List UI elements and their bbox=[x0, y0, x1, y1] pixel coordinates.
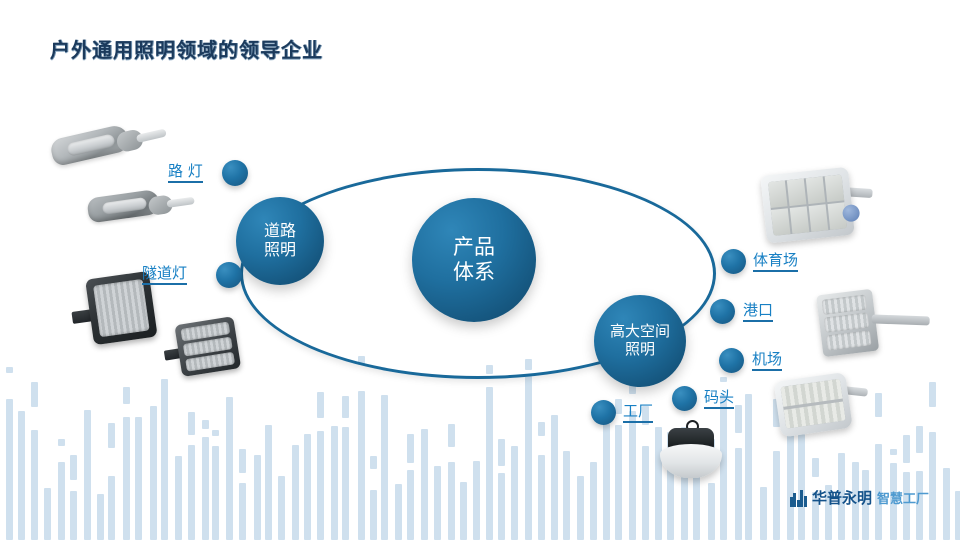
decorative-bar-segment bbox=[448, 424, 455, 447]
decorative-bar-segment bbox=[239, 449, 246, 473]
decorative-bar bbox=[460, 482, 467, 540]
decorative-bar bbox=[304, 434, 311, 540]
hub-road-lighting[interactable]: 道路 照明 bbox=[236, 197, 324, 285]
decorative-bar bbox=[943, 468, 950, 540]
decorative-bar bbox=[407, 470, 414, 540]
decorative-bar bbox=[265, 425, 272, 540]
decorative-bar-segment bbox=[58, 439, 65, 446]
decorative-bar-segment bbox=[890, 449, 897, 455]
decorative-bar bbox=[642, 446, 649, 540]
node-dot-wharf[interactable] bbox=[672, 386, 697, 411]
decorative-bar bbox=[525, 376, 532, 540]
decorative-bar bbox=[434, 466, 441, 540]
decorative-bar bbox=[18, 411, 25, 540]
highbay-ufo-lamp-image bbox=[660, 420, 722, 482]
decorative-bar bbox=[563, 451, 570, 540]
page-title: 户外通用照明领域的领导企业 bbox=[50, 34, 323, 63]
decorative-bar-segment bbox=[903, 435, 910, 463]
node-dot-stadium[interactable] bbox=[721, 249, 746, 274]
grey-floodlight-image bbox=[816, 281, 944, 367]
decorative-bar-segment bbox=[6, 367, 13, 373]
decorative-bar bbox=[590, 462, 597, 540]
decorative-bar bbox=[84, 410, 91, 540]
decorative-bar-segment bbox=[735, 405, 742, 433]
decorative-bar bbox=[448, 462, 455, 540]
decorative-bar bbox=[226, 397, 233, 540]
hub-center-line1: 产品 bbox=[453, 235, 495, 260]
decorative-bar bbox=[212, 446, 219, 540]
decorative-bar bbox=[358, 391, 365, 540]
slide-canvas: 产品 体系 道路 照明 高大空间 照明 路 灯 隧道灯 体育场 港口 机场 码头… bbox=[0, 0, 960, 540]
decorative-bar bbox=[6, 399, 13, 540]
node-label-stadium[interactable]: 体育场 bbox=[753, 252, 798, 272]
logo-suffix-text: 智慧工厂 bbox=[877, 488, 929, 507]
node-dot-factory[interactable] bbox=[591, 400, 616, 425]
hub-high-space-lighting[interactable]: 高大空间 照明 bbox=[594, 295, 686, 387]
node-label-street-light[interactable]: 路 灯 bbox=[168, 163, 203, 183]
node-dot-port[interactable] bbox=[710, 299, 735, 324]
decorative-bar bbox=[31, 430, 38, 540]
decorative-bar-segment bbox=[498, 439, 505, 466]
decorative-bar-segment bbox=[212, 430, 219, 436]
decorative-bar bbox=[70, 491, 77, 540]
brand-logo: 华普永明 智慧工厂 bbox=[790, 487, 929, 508]
node-dot-tunnel-light[interactable] bbox=[216, 262, 242, 288]
hub-left-line2: 照明 bbox=[264, 241, 296, 260]
stadium-floodlight-image bbox=[760, 164, 878, 253]
decorative-bar-segment bbox=[812, 458, 819, 477]
decorative-bar-segment bbox=[202, 420, 209, 429]
decorative-bar-segment bbox=[31, 382, 38, 407]
decorative-bar bbox=[161, 379, 168, 540]
decorative-bar-segment bbox=[929, 382, 936, 407]
hub-center-line2: 体系 bbox=[453, 260, 495, 285]
decorative-bar bbox=[955, 491, 960, 540]
decorative-bar bbox=[498, 473, 505, 540]
node-label-wharf[interactable]: 码头 bbox=[704, 389, 734, 409]
decorative-bar bbox=[202, 437, 209, 540]
node-label-port[interactable]: 港口 bbox=[743, 302, 773, 322]
node-label-factory[interactable]: 工厂 bbox=[623, 403, 653, 423]
decorative-bar bbox=[395, 484, 402, 540]
logo-brand-text: 华普永明 bbox=[812, 487, 872, 508]
decorative-bar-segment bbox=[538, 422, 545, 436]
decorative-bar bbox=[239, 483, 246, 540]
decorative-bar bbox=[254, 455, 261, 540]
hub-left-line1: 道路 bbox=[264, 222, 296, 241]
decorative-bar bbox=[473, 461, 480, 540]
decorative-bar-segment bbox=[342, 396, 349, 418]
factory-bars-icon bbox=[790, 489, 807, 507]
decorative-bar-segment bbox=[615, 399, 622, 414]
hub-product-system[interactable]: 产品 体系 bbox=[412, 198, 536, 322]
decorative-bar bbox=[421, 429, 428, 540]
decorative-bar-segment bbox=[407, 434, 414, 463]
decorative-bar bbox=[603, 424, 610, 540]
decorative-bar bbox=[615, 425, 622, 540]
decorative-bar bbox=[551, 415, 558, 540]
tunnel-lamp-right-image bbox=[160, 316, 246, 387]
street-lamp-bottom-image bbox=[86, 185, 191, 236]
decorative-bar bbox=[773, 451, 780, 540]
node-dot-street-light[interactable] bbox=[222, 160, 248, 186]
decorative-bar bbox=[745, 394, 752, 540]
decorative-bar-segment bbox=[370, 456, 377, 469]
hub-right-line1: 高大空间 bbox=[610, 323, 670, 341]
node-dot-airport[interactable] bbox=[719, 348, 744, 373]
decorative-bar bbox=[175, 456, 182, 540]
decorative-bar bbox=[317, 431, 324, 540]
decorative-bar bbox=[629, 411, 636, 540]
node-label-tunnel-light[interactable]: 隧道灯 bbox=[142, 265, 187, 285]
decorative-bar bbox=[370, 490, 377, 540]
decorative-bar bbox=[108, 476, 115, 540]
decorative-bar-segment bbox=[916, 426, 923, 453]
decorative-bar bbox=[150, 406, 157, 540]
decorative-bar-segment bbox=[70, 455, 77, 480]
decorative-bar bbox=[929, 432, 936, 540]
decorative-bar bbox=[44, 488, 51, 540]
decorative-bar bbox=[123, 417, 130, 540]
decorative-bar bbox=[342, 427, 349, 540]
street-lamp-top-image bbox=[49, 116, 165, 180]
decorative-bar-segment bbox=[317, 392, 324, 418]
decorative-bar bbox=[381, 395, 388, 540]
decorative-bar-segment bbox=[123, 387, 130, 404]
decorative-bar-segment bbox=[720, 377, 727, 382]
decorative-bar bbox=[577, 476, 584, 540]
decorative-bar bbox=[97, 494, 104, 540]
decorative-bar bbox=[511, 446, 518, 540]
decorative-bar bbox=[135, 417, 142, 540]
decorative-bar bbox=[708, 483, 715, 540]
decorative-bar bbox=[538, 455, 545, 540]
decorative-bar bbox=[188, 445, 195, 540]
decorative-bar bbox=[486, 387, 493, 540]
decorative-bar-segment bbox=[188, 412, 195, 435]
hub-right-line2: 照明 bbox=[610, 341, 670, 359]
decorative-bar bbox=[735, 448, 742, 540]
decorative-bar-segment bbox=[108, 423, 115, 448]
decorative-bar bbox=[292, 445, 299, 540]
decorative-bar bbox=[693, 474, 700, 540]
decorative-bar bbox=[760, 487, 767, 540]
decorative-bar bbox=[278, 476, 285, 540]
node-label-airport[interactable]: 机场 bbox=[752, 351, 782, 371]
decorative-bar bbox=[58, 462, 65, 540]
decorative-bar bbox=[331, 426, 338, 540]
